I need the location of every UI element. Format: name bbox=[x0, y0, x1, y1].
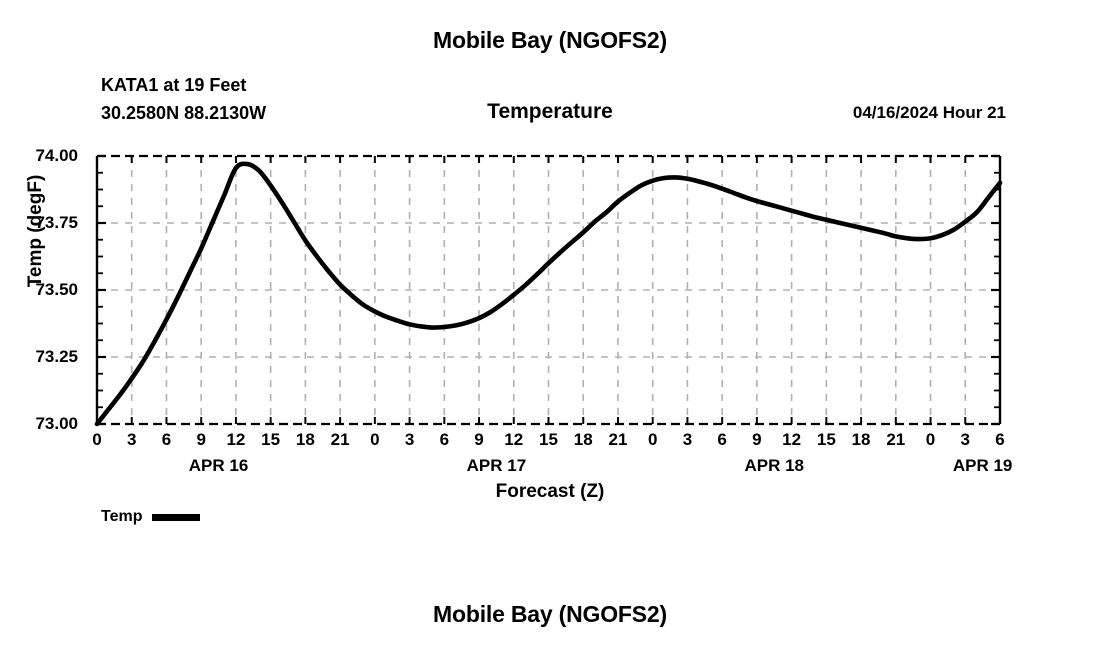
x-tick-label: 15 bbox=[539, 430, 558, 450]
x-tick-label: 15 bbox=[817, 430, 836, 450]
x-tick-label: 15 bbox=[261, 430, 280, 450]
x-tick-label: 18 bbox=[574, 430, 593, 450]
x-tick-label: 0 bbox=[926, 430, 935, 450]
x-tick-label: 3 bbox=[961, 430, 970, 450]
x-axis-day-label: APR 18 bbox=[744, 456, 804, 476]
x-tick-label: 0 bbox=[92, 430, 101, 450]
legend-line-swatch bbox=[152, 514, 200, 521]
x-tick-label: 12 bbox=[782, 430, 801, 450]
x-tick-label: 6 bbox=[162, 430, 171, 450]
x-tick-label: 21 bbox=[331, 430, 350, 450]
legend-series-label: Temp bbox=[101, 508, 142, 526]
x-tick-label: 18 bbox=[296, 430, 315, 450]
x-tick-label: 12 bbox=[504, 430, 523, 450]
x-tick-label: 9 bbox=[196, 430, 205, 450]
x-tick-label: 3 bbox=[405, 430, 414, 450]
chart-legend: Temp bbox=[101, 508, 200, 526]
x-axis-day-label: APR 17 bbox=[467, 456, 527, 476]
x-tick-label: 6 bbox=[717, 430, 726, 450]
x-tick-label: 3 bbox=[127, 430, 136, 450]
x-axis-day-label: APR 16 bbox=[189, 456, 249, 476]
x-tick-label: 18 bbox=[852, 430, 871, 450]
x-tick-label: 9 bbox=[752, 430, 761, 450]
chart-bottom-title: Mobile Bay (NGOFS2) bbox=[0, 601, 1100, 628]
x-tick-label: 0 bbox=[370, 430, 379, 450]
x-axis-tick-labels: 036912151821036912151821036912151821036A… bbox=[0, 0, 1100, 650]
x-tick-label: 6 bbox=[440, 430, 449, 450]
x-tick-label: 21 bbox=[886, 430, 905, 450]
x-tick-label: 3 bbox=[683, 430, 692, 450]
x-tick-label: 12 bbox=[226, 430, 245, 450]
x-tick-label: 21 bbox=[608, 430, 627, 450]
x-tick-label: 6 bbox=[995, 430, 1004, 450]
x-tick-label: 9 bbox=[474, 430, 483, 450]
x-axis-day-label: APR 19 bbox=[953, 456, 1013, 476]
x-tick-label: 0 bbox=[648, 430, 657, 450]
